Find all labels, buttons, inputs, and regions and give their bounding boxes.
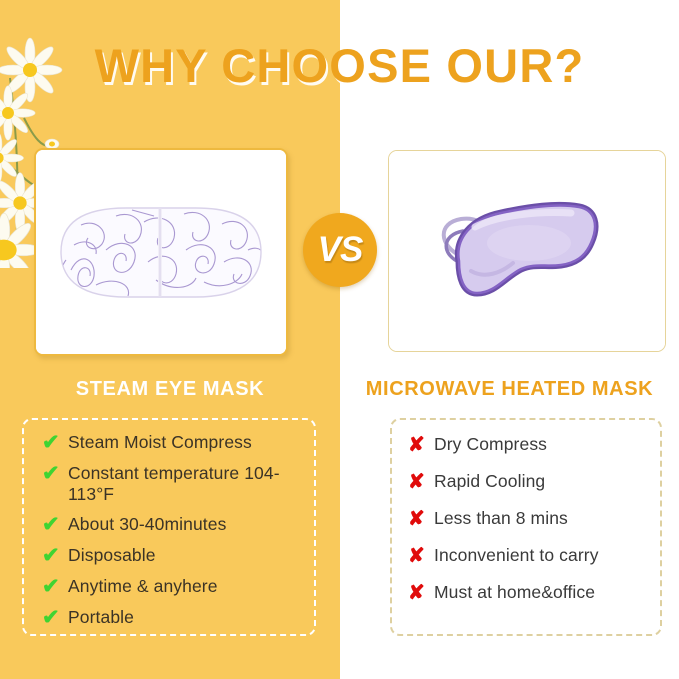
- check-icon: ✔: [42, 607, 68, 629]
- list-item: ✘ Must at home&office: [408, 582, 660, 604]
- list-item: ✔ About 30-40minutes: [42, 514, 314, 536]
- microwave-heated-mask-image: [389, 151, 665, 351]
- list-item: ✘ Less than 8 mins: [408, 508, 660, 530]
- list-item: ✘ Rapid Cooling: [408, 471, 660, 493]
- cross-icon: ✘: [408, 508, 434, 530]
- feature-label: Less than 8 mins: [434, 508, 568, 529]
- feature-label: Constant temperature 104-113°F: [68, 463, 314, 505]
- right-feature-box: ✘ Dry Compress ✘ Rapid Cooling ✘ Less th…: [390, 418, 662, 636]
- cross-icon: ✘: [408, 545, 434, 567]
- feature-label: Steam Moist Compress: [68, 432, 252, 453]
- list-item: ✔ Disposable: [42, 545, 314, 567]
- cross-icon: ✘: [408, 582, 434, 604]
- cross-icon: ✘: [408, 471, 434, 493]
- left-column-heading: STEAM EYE MASK: [0, 378, 340, 401]
- feature-label: Inconvenient to carry: [434, 545, 599, 566]
- left-feature-list: ✔ Steam Moist Compress ✔ Constant temper…: [24, 420, 314, 629]
- left-product-card: [34, 148, 288, 356]
- cross-icon: ✘: [408, 434, 434, 456]
- check-icon: ✔: [42, 514, 68, 536]
- list-item: ✘ Inconvenient to carry: [408, 545, 660, 567]
- right-column-heading: MICROWAVE HEATED MASK: [340, 378, 679, 401]
- feature-label: Portable: [68, 607, 134, 628]
- feature-label: Anytime & anyhere: [68, 576, 218, 597]
- feature-label: Rapid Cooling: [434, 471, 545, 492]
- vs-label: VS: [318, 230, 363, 270]
- check-icon: ✔: [42, 432, 68, 454]
- feature-label: Disposable: [68, 545, 156, 566]
- list-item: ✔ Steam Moist Compress: [42, 432, 314, 454]
- check-icon: ✔: [42, 576, 68, 598]
- comparison-infographic: WHY CHOOSE OUR?: [0, 0, 679, 679]
- feature-label: About 30-40minutes: [68, 514, 226, 535]
- left-feature-box: ✔ Steam Moist Compress ✔ Constant temper…: [22, 418, 316, 636]
- right-product-card: [388, 150, 666, 352]
- page-title: WHY CHOOSE OUR?: [0, 38, 679, 93]
- right-feature-list: ✘ Dry Compress ✘ Rapid Cooling ✘ Less th…: [392, 420, 660, 604]
- check-icon: ✔: [42, 463, 68, 485]
- list-item: ✔ Portable: [42, 607, 314, 629]
- list-item: ✔ Constant temperature 104-113°F: [42, 463, 314, 505]
- feature-label: Dry Compress: [434, 434, 547, 455]
- vs-badge: VS: [303, 213, 377, 287]
- check-icon: ✔: [42, 545, 68, 567]
- list-item: ✔ Anytime & anyhere: [42, 576, 314, 598]
- steam-eye-mask-image: [36, 150, 286, 354]
- list-item: ✘ Dry Compress: [408, 434, 660, 456]
- feature-label: Must at home&office: [434, 582, 595, 603]
